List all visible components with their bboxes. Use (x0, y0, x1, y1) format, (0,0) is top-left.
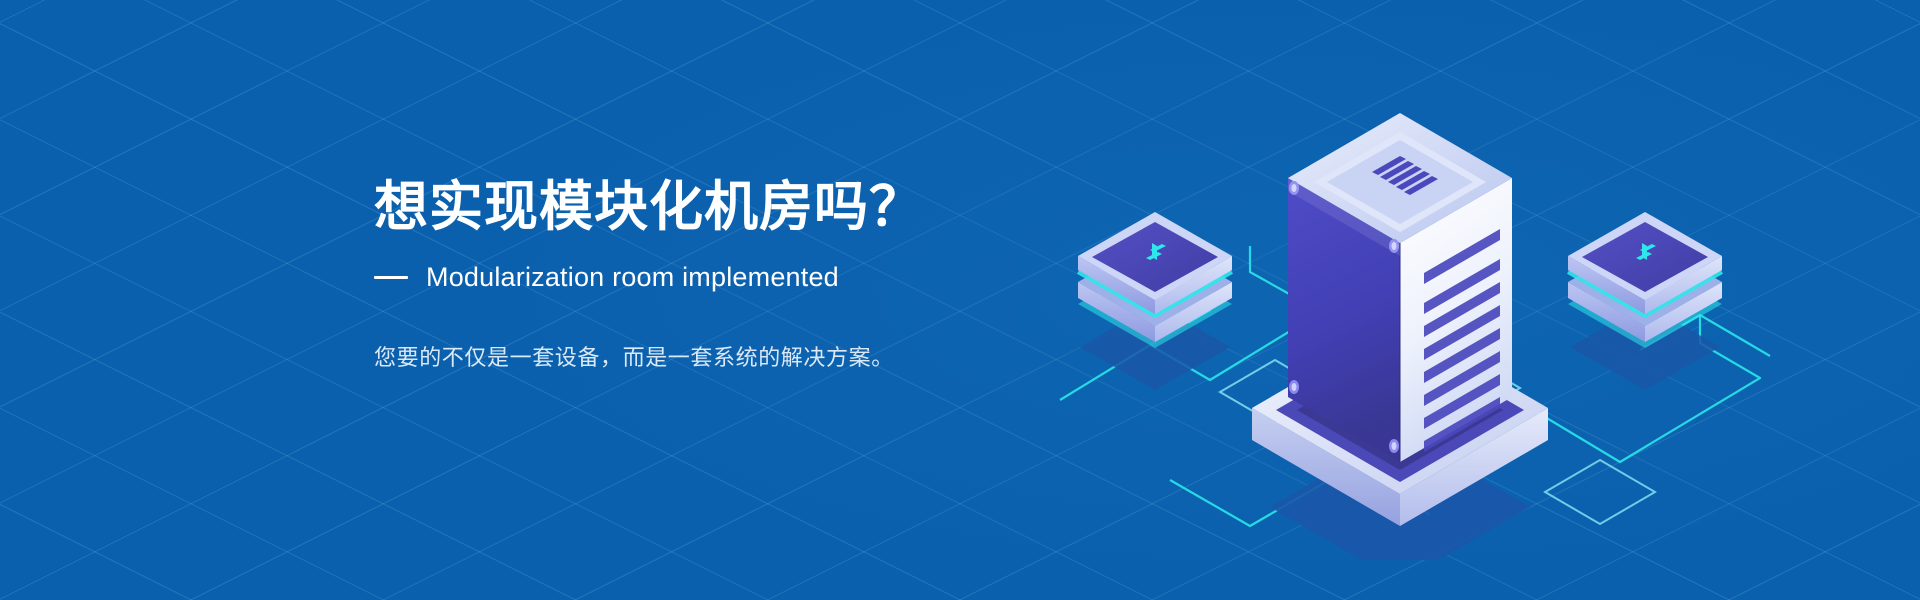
chip-module-right (1568, 212, 1722, 390)
banner-description: 您要的不仅是一套设备，而是一套系统的解决方案。 (374, 341, 1094, 374)
chip-module-left (1078, 212, 1232, 390)
dash-accent-icon (374, 276, 408, 279)
hero-banner: 想实现模块化机房吗？ Modularization room implement… (0, 0, 1920, 600)
banner-subtitle-row: Modularization room implemented (374, 262, 1094, 293)
banner-headline: 想实现模块化机房吗？ (374, 176, 1094, 240)
isometric-server-rack-illustration (1000, 60, 1800, 560)
server-tower (1252, 113, 1548, 560)
banner-text-block: 想实现模块化机房吗？ Modularization room implement… (374, 176, 1094, 374)
banner-subtitle: Modularization room implemented (426, 262, 839, 293)
